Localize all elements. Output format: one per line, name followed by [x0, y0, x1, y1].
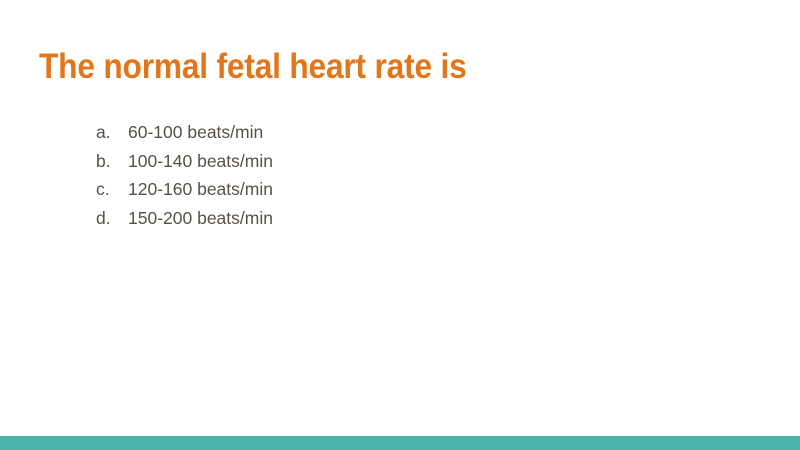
list-item[interactable]: d. 150-200 beats/min — [96, 204, 273, 233]
list-item[interactable]: b. 100-140 beats/min — [96, 147, 273, 176]
option-text: 60-100 beats/min — [128, 118, 263, 147]
list-item[interactable]: c. 120-160 beats/min — [96, 175, 273, 204]
option-text: 120-160 beats/min — [128, 175, 273, 204]
bottom-accent-bar — [0, 436, 800, 450]
option-text: 150-200 beats/min — [128, 204, 273, 233]
list-item[interactable]: a. 60-100 beats/min — [96, 118, 273, 147]
option-marker: d. — [96, 204, 128, 233]
slide-canvas: The normal fetal heart rate is a. 60-100… — [0, 0, 800, 450]
option-marker: b. — [96, 147, 128, 176]
page-title: The normal fetal heart rate is — [39, 46, 467, 88]
option-marker: a. — [96, 118, 128, 147]
answer-options-list: a. 60-100 beats/min b. 100-140 beats/min… — [96, 118, 273, 232]
option-text: 100-140 beats/min — [128, 147, 273, 176]
option-marker: c. — [96, 175, 128, 204]
